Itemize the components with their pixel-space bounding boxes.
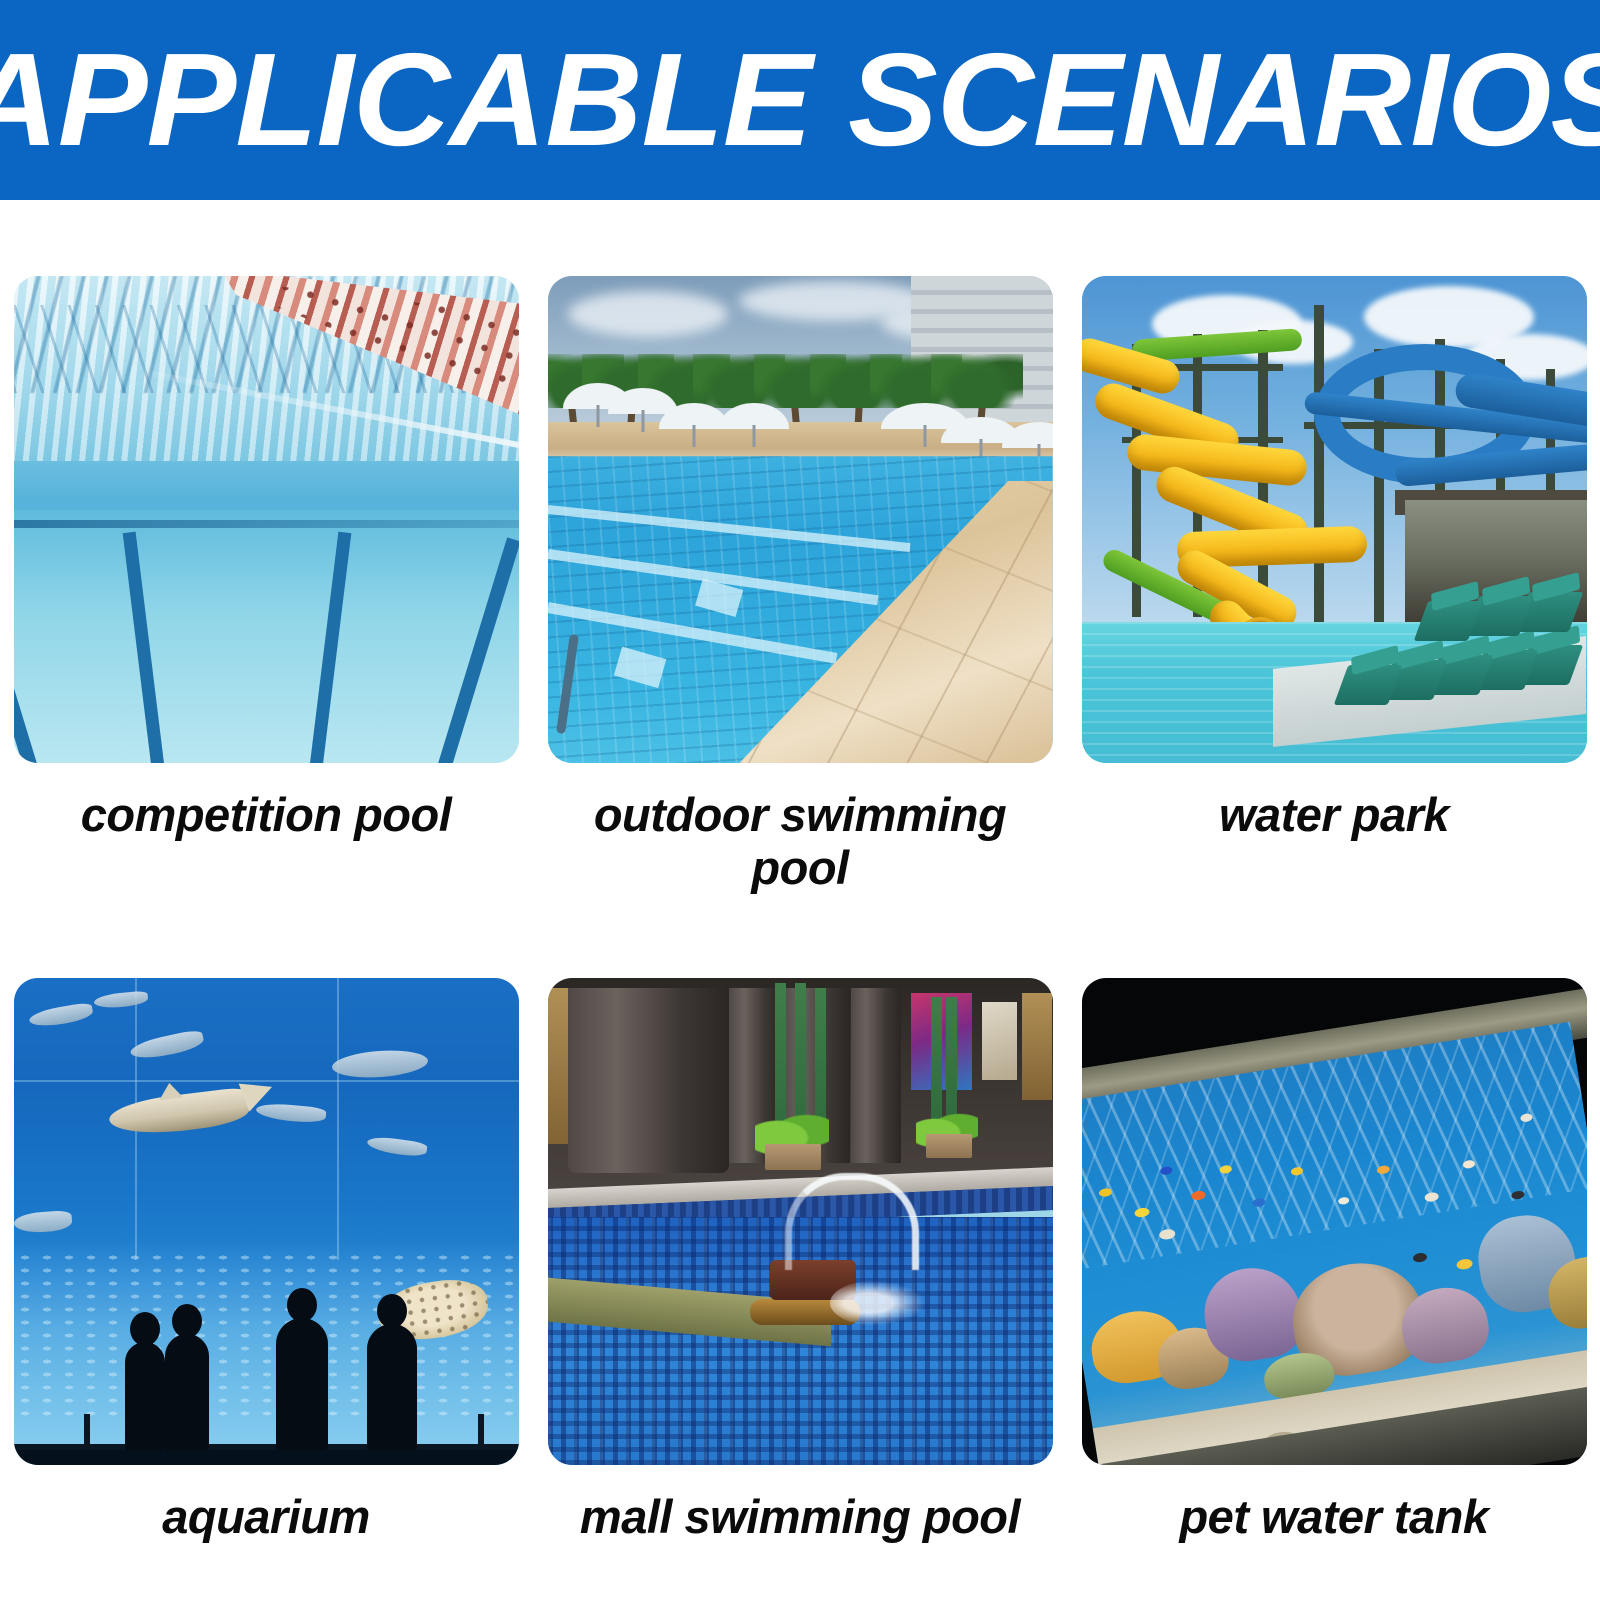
competition-pool-image <box>14 276 519 763</box>
water-park-caption: water park <box>1099 789 1569 842</box>
scenario-card-pet-water-tank[interactable]: pet water tank <box>1074 902 1594 1600</box>
mall-swimming-pool-caption: mall swimming pool <box>565 1491 1035 1544</box>
scenario-grid: competition pool <box>0 200 1600 1600</box>
outdoor-swimming-pool-caption: outdoor swimming pool <box>565 789 1035 894</box>
scenario-card-outdoor-swimming-pool[interactable]: outdoor swimming pool <box>540 200 1060 898</box>
header-banner: APPLICABLE SCENARIOS <box>0 0 1600 200</box>
scenario-card-competition-pool[interactable]: competition pool <box>6 200 526 898</box>
scenario-card-water-park[interactable]: water park <box>1074 200 1594 898</box>
applicable-scenarios-page: APPLICABLE SCENARIOS <box>0 0 1600 1600</box>
pet-water-tank-caption: pet water tank <box>1099 1491 1569 1544</box>
outdoor-swimming-pool-image <box>548 276 1053 763</box>
scenario-card-aquarium[interactable]: aquarium <box>6 902 526 1600</box>
aquarium-caption: aquarium <box>31 1491 501 1544</box>
mall-swimming-pool-image <box>548 978 1053 1465</box>
scenario-card-mall-swimming-pool[interactable]: mall swimming pool <box>540 902 1060 1600</box>
pet-water-tank-image <box>1082 978 1587 1465</box>
water-park-image <box>1082 276 1587 763</box>
competition-pool-caption: competition pool <box>31 789 501 842</box>
aquarium-image <box>14 978 519 1465</box>
page-title: APPLICABLE SCENARIOS <box>0 34 1600 166</box>
